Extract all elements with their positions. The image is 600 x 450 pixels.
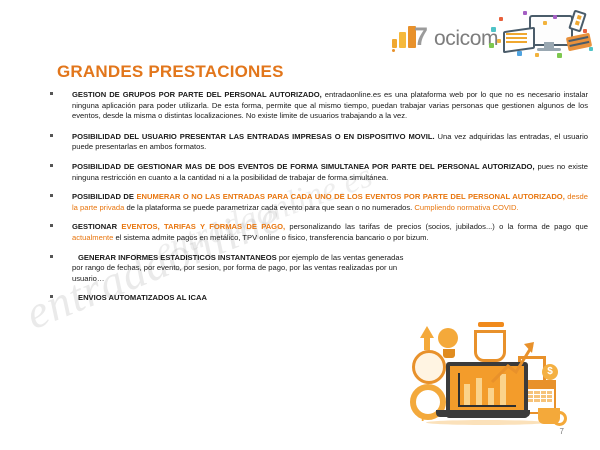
- ocicom-logo-icon: 7: [392, 24, 432, 50]
- page-number: 7: [560, 427, 564, 436]
- bullet-body-5-plain-1: personalizando las tarifas de precios (s…: [285, 222, 588, 231]
- analytics-illustration-icon: $ +: [418, 322, 593, 440]
- slide-header: 7 ocicom: [0, 0, 600, 62]
- logo-numeral: 7: [414, 25, 428, 50]
- growth-arrow-icon: [488, 336, 538, 386]
- devices-illustration-icon: [487, 9, 595, 59]
- bullet-lead-3: POSIBILIDAD DE GESTIONAR MAS DE DOS EVEN…: [72, 162, 535, 171]
- bullet-body-5-plain-2: el sistema admite pagos en metálico, TPV…: [113, 233, 428, 242]
- page-title: GRANDES PRESTACIONES: [57, 62, 284, 82]
- bullet-body-4-plain: de la plataforma se puede parametrizar c…: [124, 203, 414, 212]
- bullet-marker: [50, 224, 53, 227]
- slide-canvas: entradaonline entradaonline.es 7 ocicom: [0, 0, 600, 450]
- bullet-lead-7: ENVIOS AUTOMATIZADOS AL ICAA: [78, 293, 207, 302]
- bullet-marker: [50, 255, 53, 258]
- bullet-lead-5-plain: GESTIONAR: [72, 222, 121, 231]
- bullet-lead-1: GESTION DE GRUPOS POR PARTE DEL PERSONAL…: [72, 90, 322, 99]
- bullet-lead-6: GENERAR INFORMES ESTADISTICOS INSTANTANE…: [72, 253, 277, 262]
- bullet-marker: [50, 92, 53, 95]
- bullet-lead-4-highlight: ENUMERAR O NO LAS ENTRADAS PARA CADA UNO…: [136, 192, 564, 201]
- bullet-item-1: GESTION DE GRUPOS POR PARTE DEL PERSONAL…: [0, 90, 600, 122]
- bullet-marker: [50, 295, 53, 298]
- bullet-lead-2: POSIBILIDAD DEL USUARIO PRESENTAR LAS EN…: [72, 132, 435, 141]
- bullet-body-4-highlight-2: Cumpliendo normativa COVID.: [414, 203, 518, 212]
- bullet-marker: [50, 194, 53, 197]
- bullet-marker: [50, 164, 53, 167]
- bullet-body-5-highlight: actualmente: [72, 233, 113, 242]
- bullet-item-7: ENVIOS AUTOMATIZADOS AL ICAA: [0, 293, 600, 304]
- bullet-item-4: POSIBILIDAD DE ENUMERAR O NO LAS ENTRADA…: [0, 192, 600, 213]
- bullet-marker: [50, 134, 53, 137]
- bullet-lead-4-plain: POSIBILIDAD DE: [72, 192, 136, 201]
- ocicom-logo: 7 ocicom: [392, 20, 498, 50]
- bullet-item-5: GESTIONAR EVENTOS, TARIFAS Y FORMAS DE P…: [0, 222, 600, 243]
- bullet-list: GESTION DE GRUPOS POR PARTE DEL PERSONAL…: [0, 90, 600, 313]
- bullet-lead-5-highlight: EVENTOS, TARIFAS Y FORMAS DE PAGO,: [121, 222, 285, 231]
- bullet-item-3: POSIBILIDAD DE GESTIONAR MAS DE DOS EVEN…: [0, 162, 600, 183]
- bullet-item-6: GENERAR INFORMES ESTADISTICOS INSTANTANE…: [0, 253, 600, 285]
- bullet-item-2: POSIBILIDAD DEL USUARIO PRESENTAR LAS EN…: [0, 132, 600, 153]
